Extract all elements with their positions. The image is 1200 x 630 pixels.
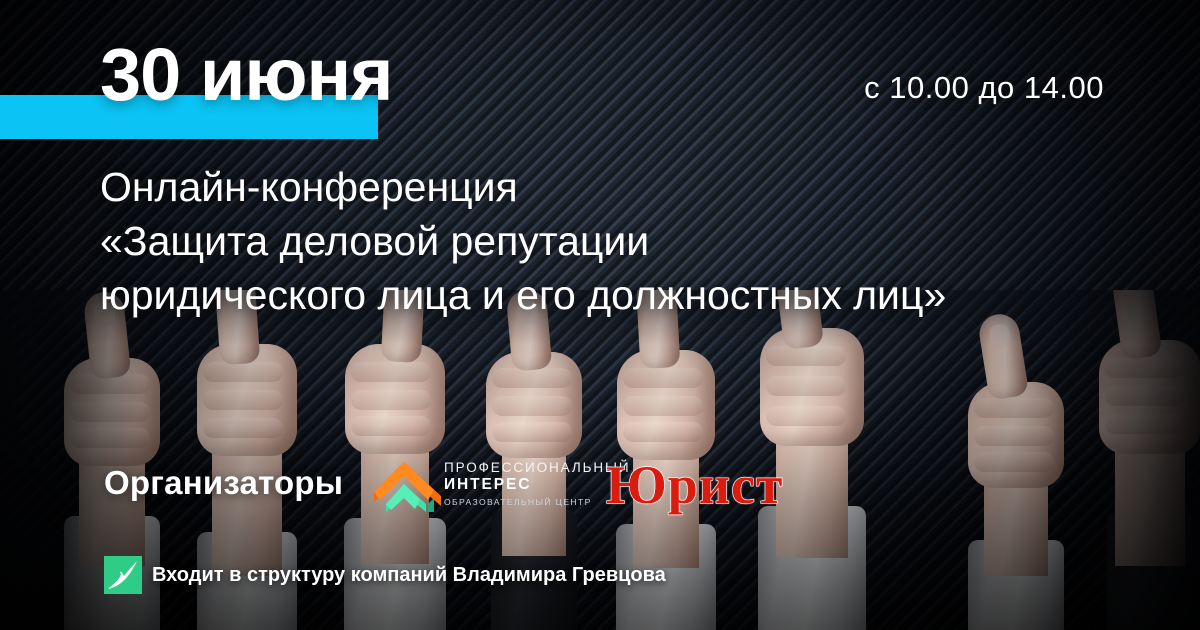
event-title-line-3: юридического лица и его должностных лиц» (100, 268, 1110, 322)
event-banner: 30 июня с 10.00 до 14.00 Онлайн-конферен… (0, 0, 1200, 630)
pi-line-1: ПРОФЕССИОНАЛЬНЫЙ (444, 460, 630, 475)
footer-text: Входит в структуру компаний Владимира Гр… (152, 564, 666, 587)
organizer-logo-professional-interest: ПРОФЕССИОНАЛЬНЫЙ ИНТЕРЕС ОБРАЗОВАТЕЛЬНЫЙ… (368, 456, 583, 518)
event-date: 30 июня (100, 38, 392, 112)
event-title-line-2: «Защита деловой репутации (100, 214, 1110, 268)
event-time: с 10.00 до 14.00 (864, 70, 1104, 106)
organizer-logo-yurist: Юрист (606, 458, 783, 512)
event-title: Онлайн-конференция «Защита деловой репут… (100, 160, 1110, 322)
pi-line-3: ОБРАЗОВАТЕЛЬНЫЙ ЦЕНТР (444, 497, 630, 507)
chevron-roof-icon (368, 460, 442, 516)
event-title-line-1: Онлайн-конференция (100, 160, 1110, 214)
grevtsov-green-logo-icon (104, 556, 142, 594)
professional-interest-text: ПРОФЕССИОНАЛЬНЫЙ ИНТЕРЕС ОБРАЗОВАТЕЛЬНЫЙ… (444, 460, 630, 507)
organizers-label: Организаторы (104, 464, 343, 502)
pi-line-2: ИНТЕРЕС (444, 476, 630, 494)
